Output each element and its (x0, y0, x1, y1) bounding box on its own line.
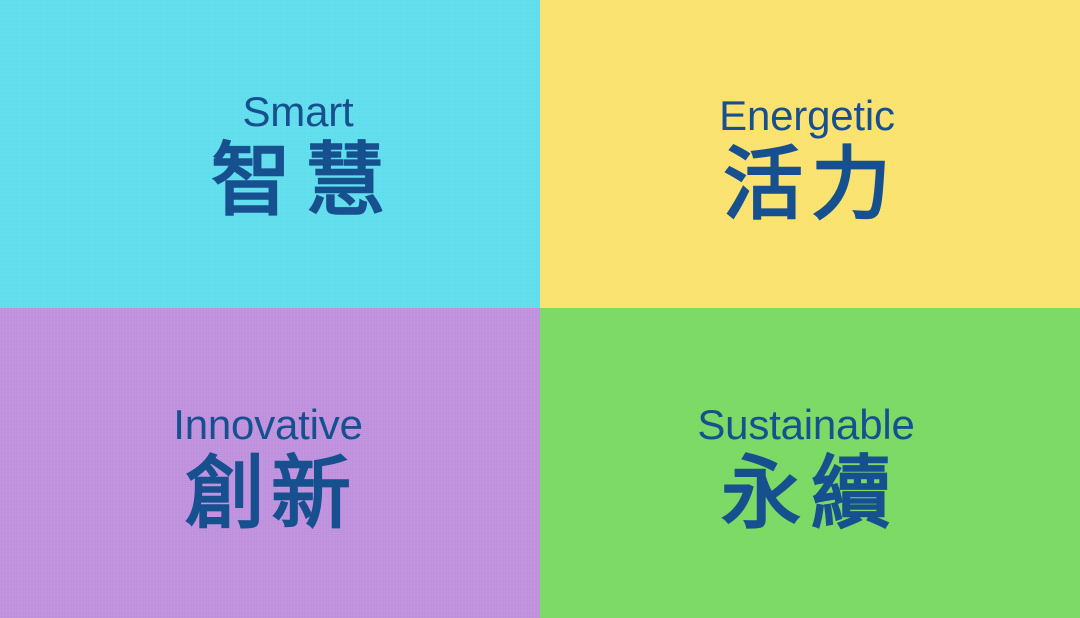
quadrant-sustainable-label-zh: 永續 (711, 454, 901, 534)
quadrant-energetic-label-zh: 活力 (715, 145, 899, 225)
quadrant-innovative-content: Innovative 創新 (173, 404, 362, 534)
brand-values-quadrant-panel: Smart 智慧 Energetic 活力 Innovative 創新 Sust… (0, 0, 1080, 618)
quadrant-energetic-label-en: Energetic (719, 95, 895, 137)
quadrant-smart-label-en: Smart (242, 91, 353, 133)
quadrant-innovative-label-zh: 創新 (179, 454, 357, 534)
quadrant-smart-label-zh: 智慧 (197, 141, 399, 221)
quadrant-sustainable-label-en: Sustainable (697, 404, 914, 446)
quadrant-smart: Smart 智慧 (0, 0, 540, 308)
quadrant-energetic-content: Energetic 活力 (715, 95, 899, 225)
quadrant-innovative: Innovative 創新 (0, 308, 540, 618)
quadrant-sustainable: Sustainable 永續 (540, 308, 1080, 618)
quadrant-sustainable-content: Sustainable 永續 (697, 404, 914, 534)
quadrant-energetic: Energetic 活力 (540, 0, 1080, 308)
quadrant-innovative-label-en: Innovative (173, 404, 362, 446)
quadrant-smart-content: Smart 智慧 (197, 91, 399, 221)
